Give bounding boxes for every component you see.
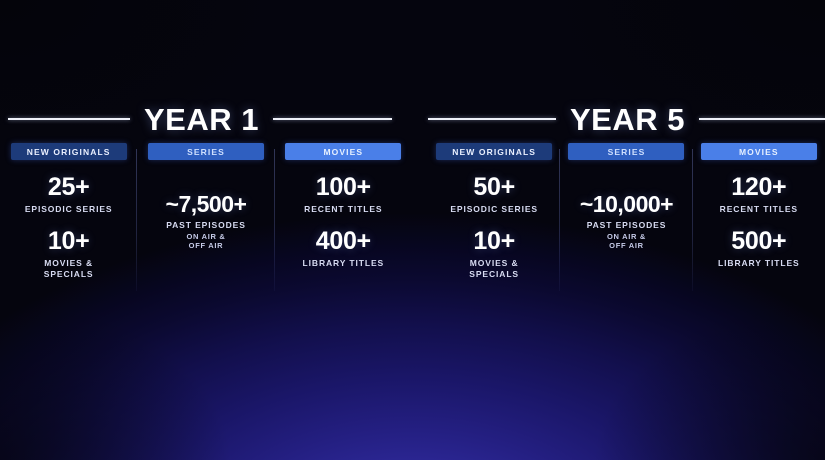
column-year1-series: SERIES ~7,500+ PAST EPISODES ON AIR &OFF… xyxy=(137,143,274,293)
year-1-title: YEAR 1 xyxy=(130,104,273,135)
stat-label: LIBRARY TITLES xyxy=(697,258,821,269)
year-5-header: YEAR 5 xyxy=(428,101,825,137)
stat-stack: ~10,000+ PAST EPISODES ON AIR &OFF AIR xyxy=(564,192,688,251)
header-rule-left xyxy=(8,118,130,120)
stat-past-episodes: ~10,000+ PAST EPISODES ON AIR &OFF AIR xyxy=(564,192,688,251)
stat-episodic-series: 25+ EPISODIC SERIES xyxy=(4,174,133,215)
stat-label: EPISODIC SERIES xyxy=(4,204,133,215)
year-5-title: YEAR 5 xyxy=(556,104,699,135)
stat-value: ~7,500+ xyxy=(141,192,270,217)
stat-stack: 100+ RECENT TITLES 400+ LIBRARY TITLES xyxy=(279,174,408,269)
stat-value: ~10,000+ xyxy=(564,192,688,217)
stat-value: 400+ xyxy=(279,228,408,255)
stat-library-titles: 400+ LIBRARY TITLES xyxy=(279,228,408,269)
stat-recent-titles: 100+ RECENT TITLES xyxy=(279,174,408,215)
stat-episodic-series: 50+ EPISODIC SERIES xyxy=(432,174,556,215)
stat-label: LIBRARY TITLES xyxy=(279,258,408,269)
stat-stack: 50+ EPISODIC SERIES 10+ MOVIES &SPECIALS xyxy=(432,174,556,280)
pill-new-originals: NEW ORIGINALS xyxy=(11,143,127,160)
pill-new-originals: NEW ORIGINALS xyxy=(436,143,552,160)
stat-label: RECENT TITLES xyxy=(279,204,408,215)
header-rule-right xyxy=(273,118,392,120)
year-1-columns: NEW ORIGINALS 25+ EPISODIC SERIES 10+ MO… xyxy=(0,143,412,293)
pill-series: SERIES xyxy=(148,143,264,160)
header-rule-right xyxy=(699,118,825,120)
stat-sublabel: ON AIR &OFF AIR xyxy=(564,232,688,252)
stat-value: 500+ xyxy=(697,228,821,255)
column-year5-movies: MOVIES 120+ RECENT TITLES 500+ LIBRARY T… xyxy=(693,143,825,293)
stat-value: 120+ xyxy=(697,174,821,201)
year-1-header: YEAR 1 xyxy=(0,101,412,137)
pill-movies: MOVIES xyxy=(285,143,401,160)
stat-value: 25+ xyxy=(4,174,133,201)
stat-value: 50+ xyxy=(432,174,556,201)
year-5-columns: NEW ORIGINALS 50+ EPISODIC SERIES 10+ MO… xyxy=(428,143,825,293)
stat-sublabel: ON AIR &OFF AIR xyxy=(141,232,270,252)
stat-label: PAST EPISODES xyxy=(141,220,270,231)
pill-series: SERIES xyxy=(568,143,684,160)
infographic-stage: YEAR 1 NEW ORIGINALS 25+ EPISODIC SERIES… xyxy=(0,0,825,460)
column-year1-movies: MOVIES 100+ RECENT TITLES 400+ LIBRARY T… xyxy=(275,143,412,293)
stat-label: RECENT TITLES xyxy=(697,204,821,215)
stat-label: EPISODIC SERIES xyxy=(432,204,556,215)
stat-library-titles: 500+ LIBRARY TITLES xyxy=(697,228,821,269)
header-rule-left xyxy=(428,118,556,120)
stat-stack: 25+ EPISODIC SERIES 10+ MOVIES &SPECIALS xyxy=(4,174,133,280)
stat-value: 100+ xyxy=(279,174,408,201)
column-year1-new-originals: NEW ORIGINALS 25+ EPISODIC SERIES 10+ MO… xyxy=(0,143,137,293)
stat-past-episodes: ~7,500+ PAST EPISODES ON AIR &OFF AIR xyxy=(141,192,270,251)
column-year5-new-originals: NEW ORIGINALS 50+ EPISODIC SERIES 10+ MO… xyxy=(428,143,560,293)
stat-value: 10+ xyxy=(432,228,556,255)
stat-label: PAST EPISODES xyxy=(564,220,688,231)
stat-recent-titles: 120+ RECENT TITLES xyxy=(697,174,821,215)
stat-movies-specials: 10+ MOVIES &SPECIALS xyxy=(4,228,133,280)
pill-movies: MOVIES xyxy=(701,143,817,160)
column-year5-series: SERIES ~10,000+ PAST EPISODES ON AIR &OF… xyxy=(560,143,692,293)
stat-stack: 120+ RECENT TITLES 500+ LIBRARY TITLES xyxy=(697,174,821,269)
stat-stack: ~7,500+ PAST EPISODES ON AIR &OFF AIR xyxy=(141,192,270,251)
stat-label: MOVIES &SPECIALS xyxy=(4,258,133,280)
stat-movies-specials: 10+ MOVIES &SPECIALS xyxy=(432,228,556,280)
stat-value: 10+ xyxy=(4,228,133,255)
stat-label: MOVIES &SPECIALS xyxy=(432,258,556,280)
